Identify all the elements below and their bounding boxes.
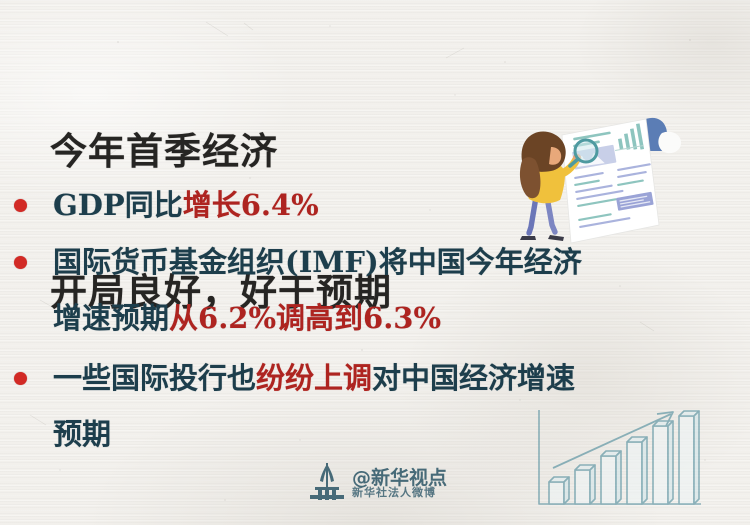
bullet-1-segment-red: 增长6.4% xyxy=(183,188,319,222)
shoe-back xyxy=(520,236,536,240)
bullet-2-line-1: 国际货币基金组织(IMF)将中国今年经济 xyxy=(53,243,582,282)
bullet-3-segment-teal-b: 对中国经济增速 xyxy=(372,361,575,395)
bullet-2-line-2-red: 从6.2%调高到6.3% xyxy=(169,301,441,335)
bullet-3-line-2: 预期 xyxy=(53,415,111,454)
shoe-front xyxy=(548,235,564,241)
bullet-dot-icon xyxy=(14,256,27,269)
bullet-dot-icon xyxy=(14,199,27,212)
bullet-2-line-2-teal: 增速预期 xyxy=(53,301,169,335)
poster-canvas: 今年首季经济 开局良好，好于预期 GDP同比增长6.4% 国际货币基金组织(IM… xyxy=(0,0,750,525)
chart-bar-3 xyxy=(601,451,621,504)
bullet-1-segment-teal: GDP同比 xyxy=(53,188,183,222)
bullet-1-text: GDP同比增长6.4% xyxy=(53,186,319,225)
watermark: @新华视点 新华社法人微博 xyxy=(306,462,476,508)
chart-bar-6 xyxy=(679,411,699,504)
chart-bar-1 xyxy=(549,477,569,504)
bullet-2-line-2: 增速预期从6.2%调高到6.3% xyxy=(53,299,441,338)
watermark-subtitle: 新华社法人微博 xyxy=(352,484,436,500)
chart-bar-4 xyxy=(627,437,647,504)
curl-highlight xyxy=(658,132,681,153)
growth-bar-chart-illustration xyxy=(523,408,713,518)
bullet-3-line-1: 一些国际投行也纷纷上调对中国经济增速 xyxy=(53,359,575,398)
xinhua-logo-icon xyxy=(306,462,348,502)
bullet-3-segment-teal-a: 一些国际投行也 xyxy=(53,361,256,395)
woman-with-magnifier-illustration xyxy=(489,105,689,245)
chart-bar-5 xyxy=(653,421,673,504)
chart-bar-2 xyxy=(575,465,595,504)
bullet-dot-icon xyxy=(14,372,27,385)
leg-back xyxy=(529,197,536,233)
bullet-3-segment-red: 纷纷上调 xyxy=(256,361,372,395)
